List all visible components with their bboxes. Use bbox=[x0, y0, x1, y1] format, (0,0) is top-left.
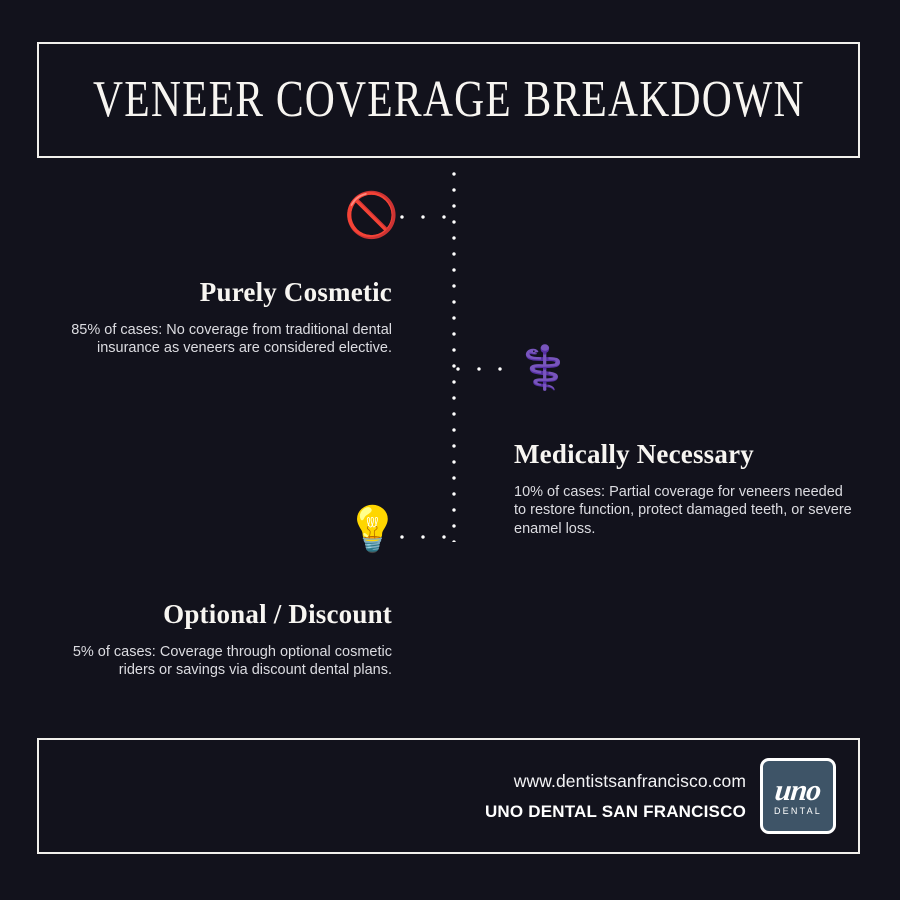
section-purely-cosmetic: Purely Cosmetic 85% of cases: No coverag… bbox=[40, 278, 392, 358]
section-body: 85% of cases: No coverage from tradition… bbox=[40, 308, 392, 358]
section-title: Optional / Discount bbox=[40, 600, 392, 630]
connector-dots-3 bbox=[400, 535, 458, 539]
logo-wordmark: uno bbox=[774, 776, 823, 806]
logo-subtitle: DENTAL bbox=[774, 807, 822, 816]
prohibited-icon: 🚫 bbox=[344, 194, 394, 238]
page-title: VENEER COVERAGE BREAKDOWN bbox=[93, 74, 805, 126]
section-title: Medically Necessary bbox=[514, 440, 854, 470]
medical-rod-of-asclepius-icon: ⚕️ bbox=[518, 347, 564, 389]
connector-dots-2 bbox=[456, 367, 514, 371]
section-body: 10% of cases: Partial coverage for venee… bbox=[514, 470, 854, 539]
connector-dots-1 bbox=[400, 215, 456, 219]
section-medically-necessary: Medically Necessary 10% of cases: Partia… bbox=[514, 440, 854, 538]
infographic-canvas: VENEER COVERAGE BREAKDOWN 🚫 ⚕️ 💡 Purely … bbox=[0, 0, 900, 900]
website-url[interactable]: www.dentistsanfrancisco.com bbox=[485, 771, 746, 792]
header-box: VENEER COVERAGE BREAKDOWN bbox=[37, 42, 860, 158]
section-body: 5% of cases: Coverage through optional c… bbox=[40, 630, 392, 680]
section-title: Purely Cosmetic bbox=[40, 278, 392, 308]
uno-dental-logo: uno DENTAL bbox=[760, 758, 836, 834]
footer-content: www.dentistsanfrancisco.com UNO DENTAL S… bbox=[485, 758, 836, 834]
section-optional-discount: Optional / Discount 5% of cases: Coverag… bbox=[40, 600, 392, 680]
lightbulb-icon: 💡 bbox=[345, 508, 395, 552]
footer-box: www.dentistsanfrancisco.com UNO DENTAL S… bbox=[37, 738, 860, 854]
timeline-dotted-spine bbox=[452, 172, 456, 542]
footer-text-group: www.dentistsanfrancisco.com UNO DENTAL S… bbox=[485, 771, 746, 822]
business-name: UNO DENTAL SAN FRANCISCO bbox=[485, 802, 746, 822]
